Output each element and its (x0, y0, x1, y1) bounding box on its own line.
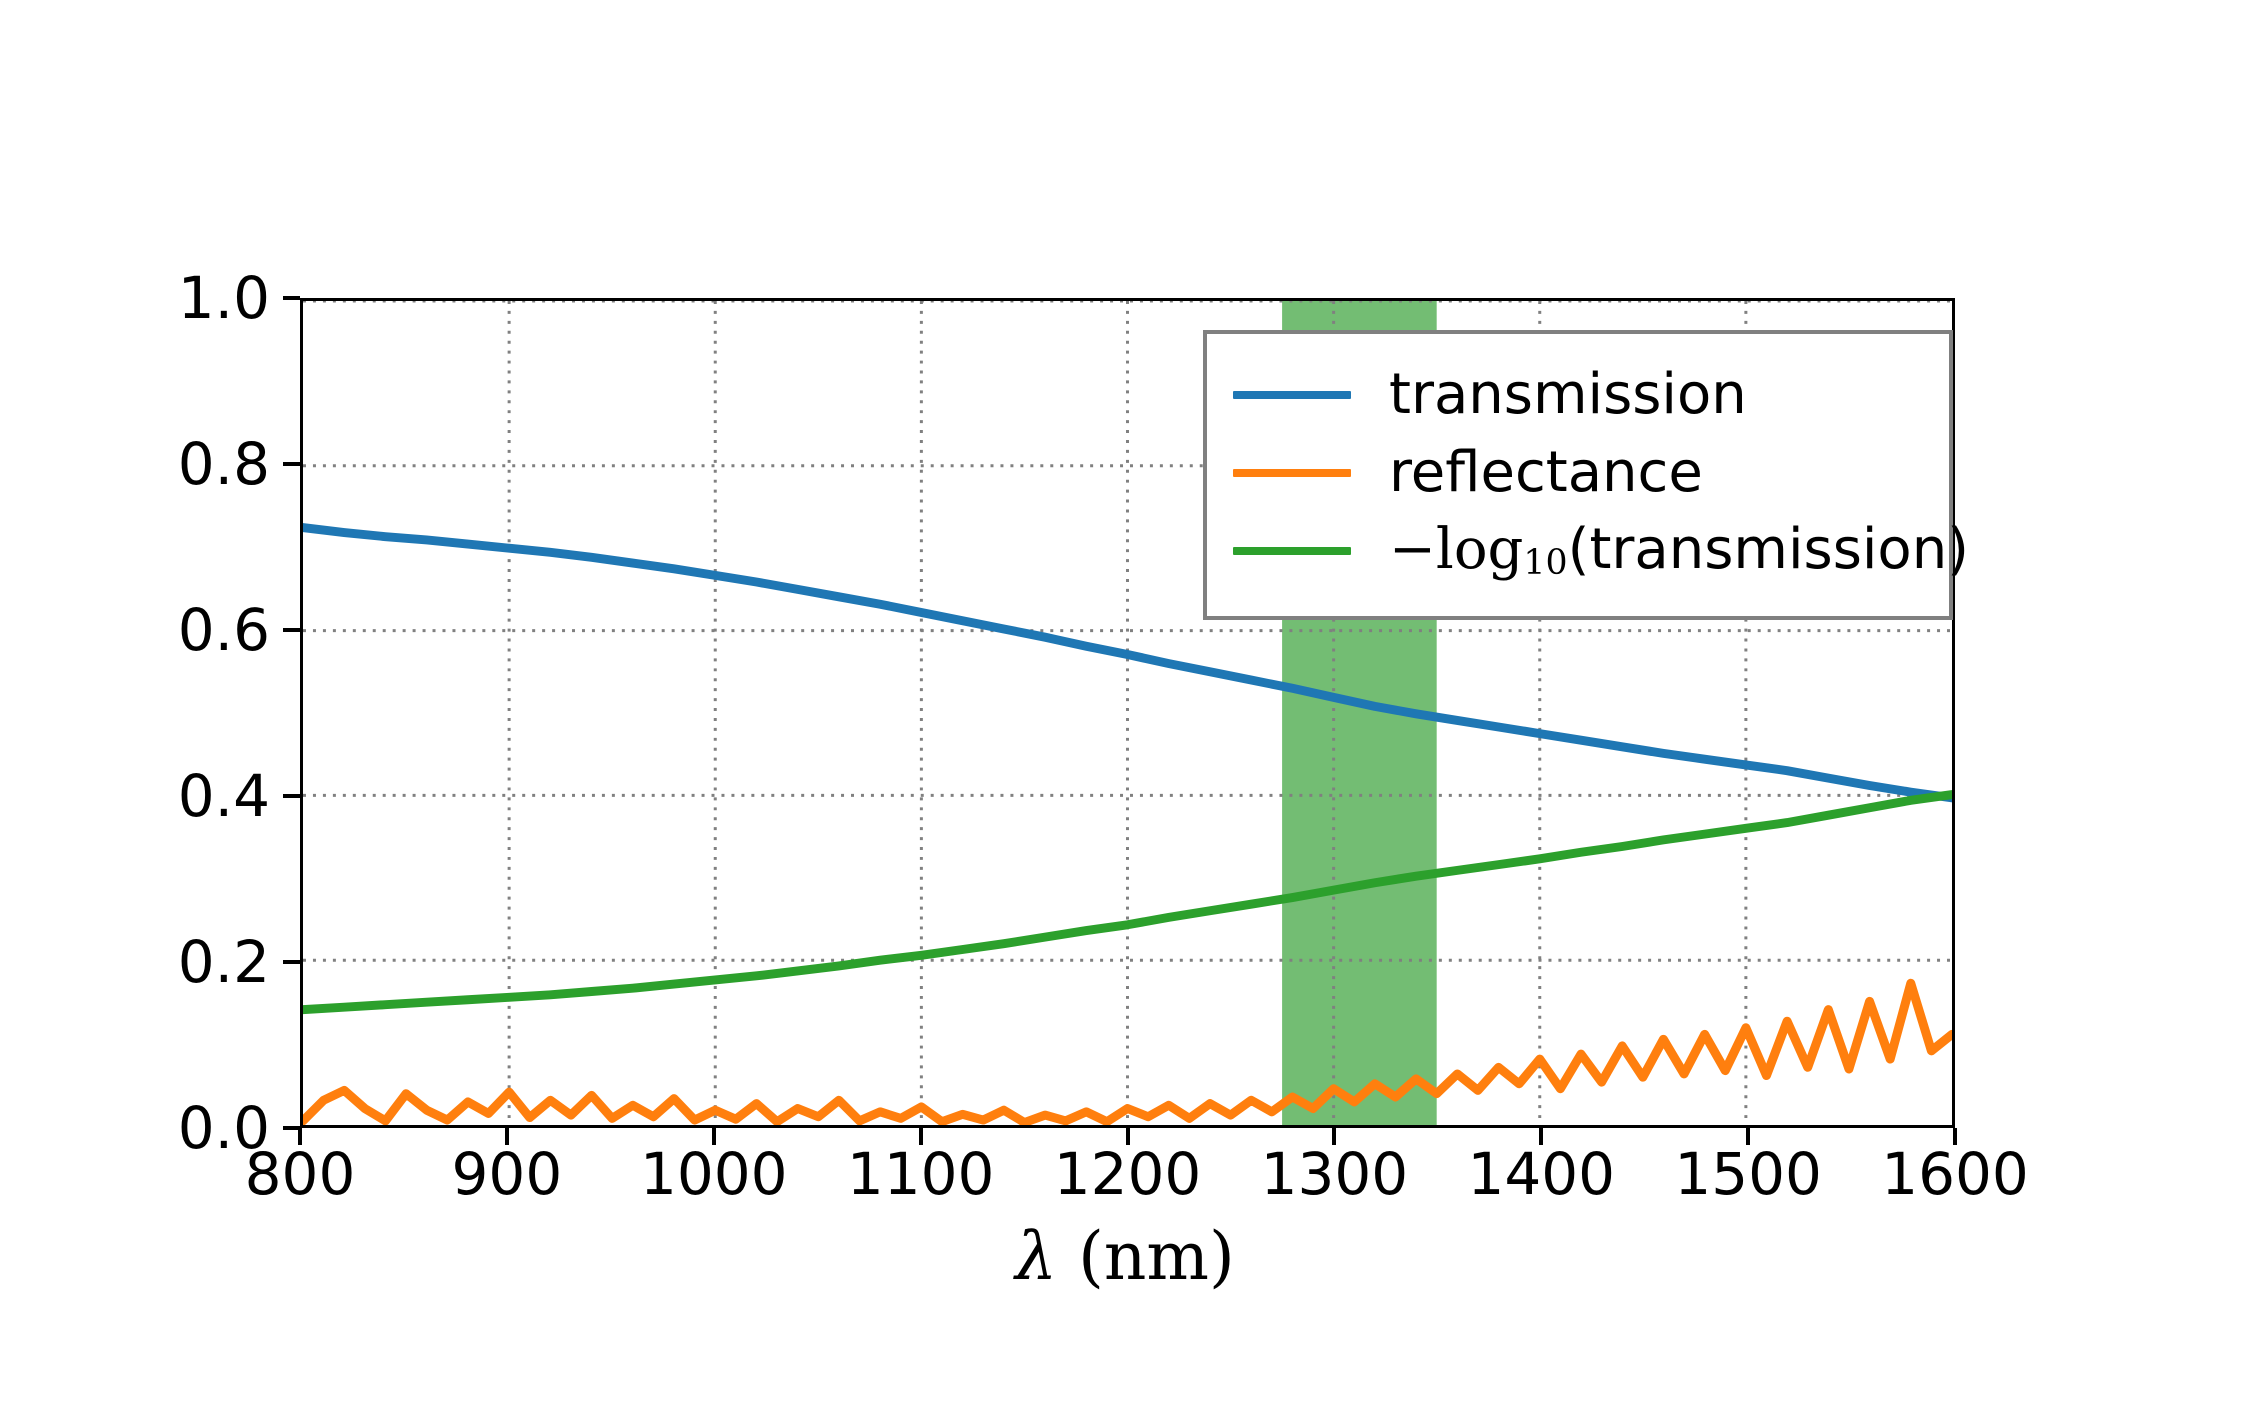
x-axis-unit: (nm) (1078, 1218, 1235, 1295)
y-tick-label-0.2: 0.2 (0, 933, 270, 991)
legend-item-neg-log10-transmission[interactable]: −log10(transmission) (1233, 512, 1923, 590)
y-tick-mark (283, 794, 300, 798)
x-tick-mark (919, 1128, 923, 1145)
legend-label-transmission: transmission (1389, 367, 1747, 423)
y-tick-label-0.8: 0.8 (0, 435, 270, 493)
x-tick-label-1000: 1000 (604, 1145, 824, 1203)
x-tick-mark (298, 1128, 302, 1145)
y-tick-mark (283, 462, 300, 466)
x-tick-mark (1539, 1128, 1543, 1145)
legend-swatch-transmission (1233, 391, 1351, 399)
y-tick-label-0.4: 0.4 (0, 767, 270, 825)
legend-label-reflectance: reflectance (1389, 445, 1703, 501)
figure-canvas: λ (nm) transmission reflectance −log10(t… (0, 0, 2250, 1425)
x-tick-label-1400: 1400 (1431, 1145, 1651, 1203)
legend-swatch-neg-log10-transmission (1233, 547, 1351, 555)
y-tick-label-0.6: 0.6 (0, 601, 270, 659)
x-tick-label-800: 800 (190, 1145, 410, 1203)
legend-item-transmission[interactable]: transmission (1233, 356, 1923, 434)
x-tick-label-1200: 1200 (1018, 1145, 1238, 1203)
x-tick-mark (712, 1128, 716, 1145)
x-tick-label-1500: 1500 (1638, 1145, 1858, 1203)
legend-swatch-reflectance (1233, 469, 1351, 477)
x-tick-mark (1746, 1128, 1750, 1145)
x-tick-label-1100: 1100 (811, 1145, 1031, 1203)
x-tick-mark (1332, 1128, 1336, 1145)
x-tick-label-1600: 1600 (1845, 1145, 2065, 1203)
legend-label-neg-log10-transmission: −log10(transmission) (1389, 522, 1969, 581)
x-tick-mark (1953, 1128, 1957, 1145)
x-tick-label-900: 900 (397, 1145, 617, 1203)
y-tick-mark (283, 296, 300, 300)
legend-item-reflectance[interactable]: reflectance (1233, 434, 1923, 512)
legend-box[interactable]: transmission reflectance −log10(transmis… (1203, 330, 1953, 620)
y-tick-mark (283, 628, 300, 632)
y-tick-mark (283, 960, 300, 964)
x-tick-mark (1126, 1128, 1130, 1145)
x-axis-title: λ (nm) (0, 1218, 2250, 1295)
series-line-reflectance (303, 983, 1952, 1122)
lambda-symbol: λ (1015, 1218, 1057, 1295)
y-tick-label-1.0: 1.0 (0, 269, 270, 327)
x-tick-label-1300: 1300 (1224, 1145, 1444, 1203)
x-tick-mark (505, 1128, 509, 1145)
